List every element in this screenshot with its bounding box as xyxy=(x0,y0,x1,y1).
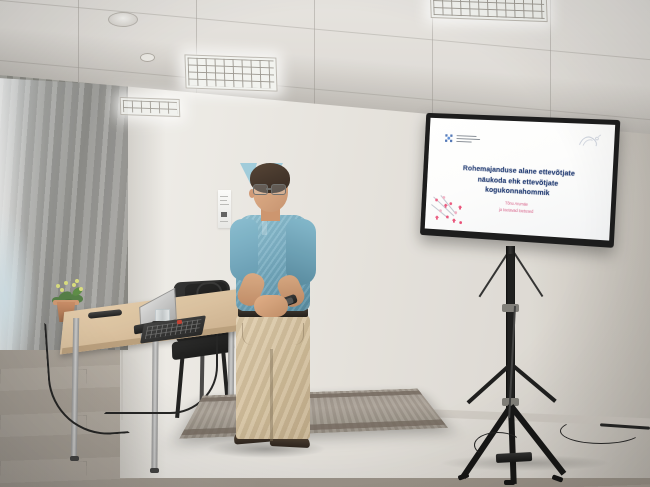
tv-screen[interactable]: Rohemajanduse alane ettevõtjate näukoda … xyxy=(425,118,615,241)
trouser-pocket xyxy=(242,323,259,345)
shirt-sleeve xyxy=(230,219,258,281)
trouser-seam xyxy=(270,349,273,441)
presentation-slide: Rohemajanduse alane ettevõtjate näukoda … xyxy=(425,118,615,241)
floor-cable xyxy=(560,418,642,444)
slide-logo xyxy=(443,133,480,145)
photo-scene: Rohemajanduse alane ettevõtjate näukoda … xyxy=(0,0,650,487)
trousers xyxy=(236,315,310,439)
presentation-tv[interactable]: Rohemajanduse alane ettevõtjate näukoda … xyxy=(420,113,620,248)
clasped-hands xyxy=(254,295,288,317)
curtain-window-glow xyxy=(0,210,36,350)
led-panel-light xyxy=(120,97,181,117)
tripod-clamp[interactable] xyxy=(502,304,519,312)
eyeglass-lens xyxy=(271,184,286,195)
presenter xyxy=(218,163,324,453)
organisation-logo-icon xyxy=(443,133,453,144)
eyeglasses-icon xyxy=(253,184,287,194)
logo-wordmark xyxy=(456,135,480,143)
slide-decoration xyxy=(430,192,473,229)
tv-tripod-stand xyxy=(430,246,610,484)
round-downlight-icon xyxy=(108,12,138,27)
led-panel-light xyxy=(184,54,277,91)
red-object-on-desk xyxy=(177,320,183,325)
tripod-shadow xyxy=(440,455,610,471)
smoke-detector-icon xyxy=(140,53,155,62)
eyeglass-lens xyxy=(253,184,268,195)
tripod-brace xyxy=(510,362,557,402)
eyeglass-bridge xyxy=(266,188,271,190)
secondary-logo-icon xyxy=(577,134,603,149)
